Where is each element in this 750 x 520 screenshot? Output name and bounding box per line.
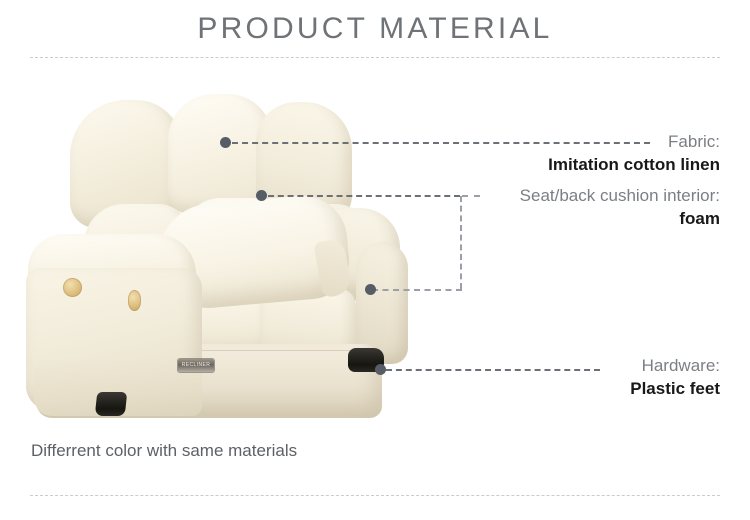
footer-caption: Differrent color with same materials <box>31 441 297 461</box>
callout-hardware-value: Plastic feet <box>630 377 720 401</box>
bottom-divider <box>30 495 720 496</box>
callout-cushion-value: foam <box>520 207 720 231</box>
callout-hardware: Hardware: Plastic feet <box>630 355 720 401</box>
top-divider <box>30 57 720 58</box>
leader-line-cushion-vertical <box>460 196 462 289</box>
page-title: PRODUCT MATERIAL <box>0 12 750 46</box>
callout-fabric-value: Imitation cotton linen <box>548 153 720 177</box>
callout-fabric: Fabric: Imitation cotton linen <box>548 131 720 177</box>
arm-ornament-upper-icon <box>63 278 82 297</box>
callout-dot-cushion-seat <box>365 284 376 295</box>
callout-hardware-label: Hardware: <box>630 355 720 377</box>
infographic-canvas: PRODUCT MATERIAL RECLINER <box>0 0 750 520</box>
callout-cushion-label: Seat/back cushion interior: <box>520 185 720 207</box>
leader-line-cushion-bottom <box>372 289 462 291</box>
leader-line-cushion-tail <box>462 195 480 197</box>
callout-fabric-label: Fabric: <box>548 131 720 153</box>
armchair-illustration: RECLINER <box>18 92 418 400</box>
brand-badge: RECLINER <box>178 359 214 372</box>
callout-cushion: Seat/back cushion interior: foam <box>520 185 720 231</box>
leader-line-cushion <box>268 195 460 197</box>
brand-badge-label: RECLINER <box>178 361 214 369</box>
leader-line-hardware <box>386 369 600 371</box>
plastic-foot-front-left <box>95 392 128 416</box>
callout-dot-fabric <box>220 137 231 148</box>
callout-dot-cushion-back <box>256 190 267 201</box>
arm-ornament-lower-icon <box>128 290 141 311</box>
callout-dot-hardware <box>375 364 386 375</box>
